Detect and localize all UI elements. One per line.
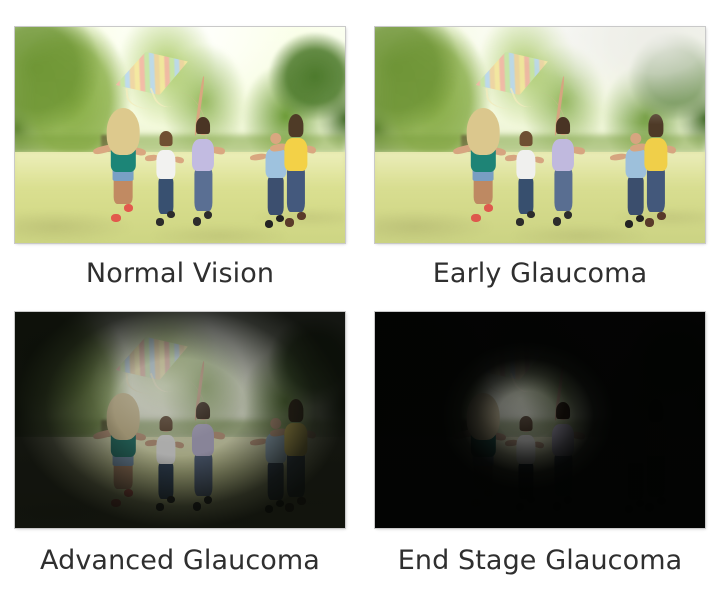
shirt bbox=[285, 423, 308, 456]
shoe-left bbox=[156, 503, 164, 510]
shoe-left bbox=[156, 218, 164, 225]
shirt bbox=[517, 150, 536, 180]
shirt bbox=[265, 148, 286, 178]
legs bbox=[627, 462, 644, 500]
park-scene-early bbox=[375, 27, 705, 243]
hair bbox=[160, 131, 173, 146]
hair bbox=[556, 402, 570, 420]
head bbox=[630, 418, 641, 429]
image-frame-normal-vision bbox=[15, 27, 345, 243]
child-lavender-shirt bbox=[553, 407, 573, 511]
sun-hat bbox=[107, 108, 140, 155]
shoe-left bbox=[471, 214, 480, 222]
legs bbox=[287, 452, 305, 496]
child-yellow-shirt bbox=[646, 405, 667, 511]
child-white-shirt bbox=[157, 420, 175, 511]
hair bbox=[649, 399, 664, 422]
legs bbox=[627, 177, 644, 215]
shoe-right bbox=[527, 211, 535, 218]
shoe-left bbox=[553, 502, 562, 510]
hair bbox=[196, 117, 210, 135]
shoe-right bbox=[657, 212, 666, 220]
child-teal-shirt bbox=[112, 124, 134, 226]
sun-hat bbox=[467, 393, 500, 440]
glaucoma-progression-figure: Normal Vision bbox=[0, 0, 720, 594]
child-white-shirt bbox=[157, 135, 175, 226]
hair bbox=[520, 416, 533, 431]
image-frame-end-stage-glaucoma bbox=[375, 312, 705, 528]
shirt bbox=[285, 138, 308, 171]
hair bbox=[289, 399, 304, 422]
shirt bbox=[625, 148, 646, 178]
child-teal-shirt bbox=[472, 124, 494, 226]
shoe-right bbox=[204, 496, 213, 504]
child-white-shirt bbox=[517, 420, 535, 511]
shirt bbox=[645, 138, 668, 171]
shoe-left bbox=[516, 503, 524, 510]
hair bbox=[196, 402, 210, 420]
shoe-left bbox=[285, 218, 294, 226]
shoe-left bbox=[111, 214, 120, 222]
shoe-right bbox=[636, 500, 644, 508]
image-frame-advanced-glaucoma bbox=[15, 312, 345, 528]
shoe-right bbox=[297, 212, 306, 220]
shoe-right bbox=[167, 211, 175, 218]
shoe-right bbox=[657, 497, 666, 505]
shoe-left bbox=[645, 503, 654, 511]
legs bbox=[287, 167, 305, 211]
legs bbox=[647, 167, 665, 211]
shoe-left bbox=[265, 220, 273, 228]
head bbox=[270, 133, 281, 144]
caption-early-glaucoma: Early Glaucoma bbox=[433, 259, 647, 289]
legs bbox=[195, 454, 212, 497]
shoe-left bbox=[553, 217, 562, 225]
hair bbox=[649, 114, 664, 137]
shirt bbox=[552, 139, 574, 171]
legs bbox=[519, 178, 534, 214]
shoe-right bbox=[204, 211, 213, 219]
shoe-right bbox=[297, 497, 306, 505]
legs bbox=[159, 463, 174, 499]
shoe-right bbox=[276, 500, 284, 508]
shirt bbox=[517, 435, 536, 465]
legs bbox=[159, 178, 174, 214]
shoe-right bbox=[636, 215, 644, 223]
shirt bbox=[192, 139, 214, 171]
shirt bbox=[625, 433, 646, 463]
legs bbox=[555, 169, 572, 212]
hair bbox=[289, 114, 304, 137]
park-scene-normal bbox=[15, 27, 345, 243]
legs bbox=[647, 452, 665, 496]
hair bbox=[556, 117, 570, 135]
hair bbox=[520, 131, 533, 146]
child-yellow-shirt bbox=[286, 120, 307, 226]
head bbox=[630, 133, 641, 144]
shoe-left bbox=[193, 217, 202, 225]
shoe-left bbox=[111, 499, 120, 507]
legs bbox=[555, 454, 572, 497]
caption-normal-vision: Normal Vision bbox=[86, 259, 274, 289]
legs bbox=[195, 169, 212, 212]
panel-early-glaucoma: Early Glaucoma bbox=[360, 0, 720, 297]
park-scene-endstage bbox=[375, 312, 705, 528]
shoe-left bbox=[193, 502, 202, 510]
child-white-shirt bbox=[517, 135, 535, 226]
image-frame-early-glaucoma bbox=[375, 27, 705, 243]
shoe-right bbox=[484, 489, 493, 497]
caption-advanced-glaucoma: Advanced Glaucoma bbox=[40, 546, 320, 576]
panel-end-stage-glaucoma: End Stage Glaucoma bbox=[360, 297, 720, 594]
child-yellow-shirt bbox=[646, 120, 667, 226]
shoe-left bbox=[265, 505, 273, 513]
shirt bbox=[157, 150, 176, 180]
shirt bbox=[645, 423, 668, 456]
legs bbox=[267, 462, 284, 500]
legs bbox=[519, 463, 534, 499]
shoe-right bbox=[167, 496, 175, 503]
head bbox=[270, 418, 281, 429]
shoe-left bbox=[625, 220, 633, 228]
park-scene-advanced bbox=[15, 312, 345, 528]
shoe-left bbox=[645, 218, 654, 226]
panel-advanced-glaucoma: Advanced Glaucoma bbox=[0, 297, 360, 594]
legs bbox=[267, 177, 284, 215]
child-lavender-shirt bbox=[193, 407, 213, 511]
caption-end-stage-glaucoma: End Stage Glaucoma bbox=[398, 546, 683, 576]
shirt bbox=[265, 433, 286, 463]
shirt bbox=[192, 424, 214, 456]
sun-hat bbox=[467, 108, 500, 155]
shirt bbox=[157, 435, 176, 465]
hair bbox=[160, 416, 173, 431]
shoe-left bbox=[516, 218, 524, 225]
child-teal-shirt bbox=[112, 409, 134, 511]
sun-hat bbox=[107, 393, 140, 440]
shoe-right bbox=[276, 215, 284, 223]
shoe-left bbox=[471, 499, 480, 507]
shoe-left bbox=[625, 505, 633, 513]
child-yellow-shirt bbox=[286, 405, 307, 511]
shoe-right bbox=[124, 489, 133, 497]
child-lavender-shirt bbox=[553, 122, 573, 226]
shirt bbox=[552, 424, 574, 456]
child-lavender-shirt bbox=[193, 122, 213, 226]
shoe-right bbox=[124, 204, 133, 212]
child-teal-shirt bbox=[472, 409, 494, 511]
shoe-left bbox=[285, 503, 294, 511]
shoe-right bbox=[564, 496, 573, 504]
panel-grid: Normal Vision bbox=[0, 0, 720, 594]
shoe-right bbox=[484, 204, 493, 212]
panel-normal-vision: Normal Vision bbox=[0, 0, 360, 297]
shoe-right bbox=[527, 496, 535, 503]
shoe-right bbox=[564, 211, 573, 219]
